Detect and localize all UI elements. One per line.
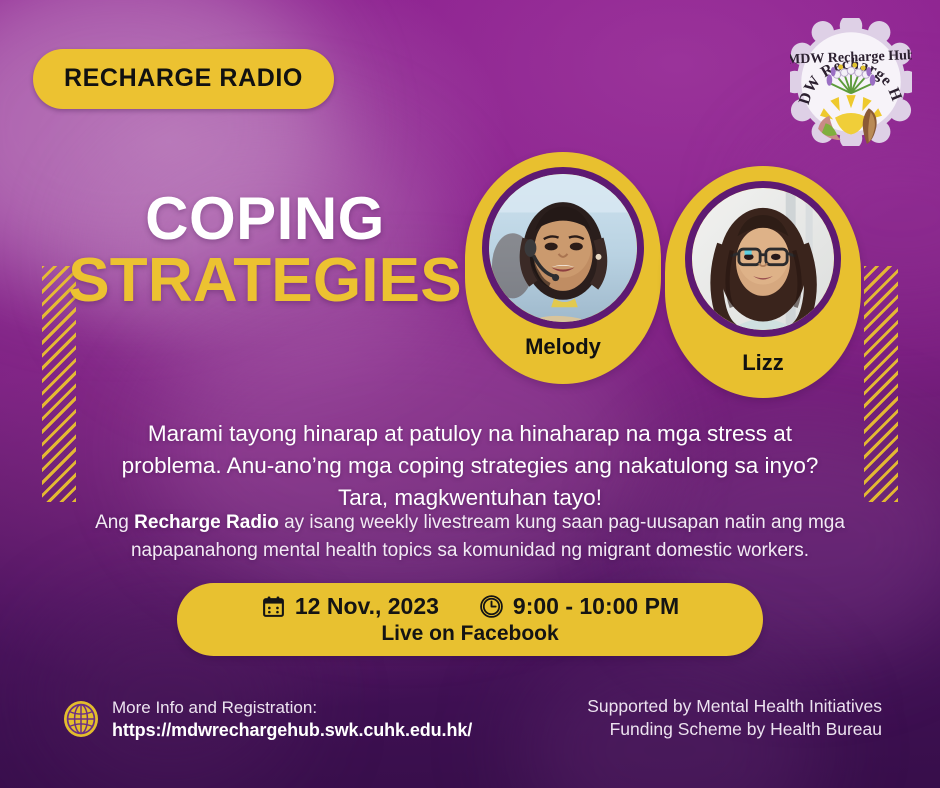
description-prefix: Ang — [95, 512, 134, 533]
description-program-name: Recharge Radio — [134, 512, 279, 533]
registration-label: More Info and Registration: — [112, 697, 472, 719]
event-date-text: 12 Nov., 2023 — [295, 593, 439, 620]
funding-credit-line-1: Supported by Mental Health Initiatives — [587, 695, 882, 718]
headline-line-2: STRATEGIES — [50, 251, 480, 312]
program-badge: RECHARGE RADIO — [33, 49, 334, 109]
registration-info: More Info and Registration: https://mdwr… — [62, 697, 472, 742]
page-title: COPING STRATEGIES — [50, 190, 480, 312]
lede-paragraph: Marami tayong hinarap at patuloy na hina… — [95, 418, 845, 514]
speaker-card-melody: Melody — [465, 152, 661, 384]
avatar — [685, 181, 841, 337]
event-details-banner: 12 Nov., 2023 9:00 - 10:00 PM Live on Fa… — [177, 583, 763, 656]
clock-icon — [479, 594, 504, 619]
event-time-text: 9:00 - 10:00 PM — [513, 593, 679, 620]
headline-line-1: COPING — [50, 190, 480, 249]
globe-icon — [62, 700, 100, 738]
event-platform: Live on Facebook — [381, 622, 558, 646]
registration-text: More Info and Registration: https://mdwr… — [112, 697, 472, 742]
poster-canvas: RECHARGE RADIO MDW Recharge — [0, 0, 940, 788]
funding-credit-line-2: Funding Scheme by Health Bureau — [587, 718, 882, 741]
description-paragraph: Ang Recharge Radio ay isang weekly lives… — [88, 509, 852, 564]
speaker-name: Melody — [465, 334, 661, 360]
event-time: 9:00 - 10:00 PM — [479, 593, 679, 620]
funding-credit: Supported by Mental Health Initiatives F… — [587, 695, 882, 741]
speaker-name: Lizz — [665, 350, 861, 376]
speaker-card-lizz: Lizz — [665, 166, 861, 398]
registration-url[interactable]: https://mdwrechargehub.swk.cuhk.edu.hk/ — [112, 719, 472, 742]
diagonal-stripes-decoration-right — [864, 266, 898, 502]
event-row: 12 Nov., 2023 9:00 - 10:00 PM — [261, 593, 679, 620]
mdw-recharge-hub-logo: MDW Recharge Hub MDW Recharge Hub — [790, 18, 912, 146]
calendar-icon — [261, 594, 286, 619]
avatar — [482, 167, 644, 329]
event-date: 12 Nov., 2023 — [261, 593, 439, 620]
